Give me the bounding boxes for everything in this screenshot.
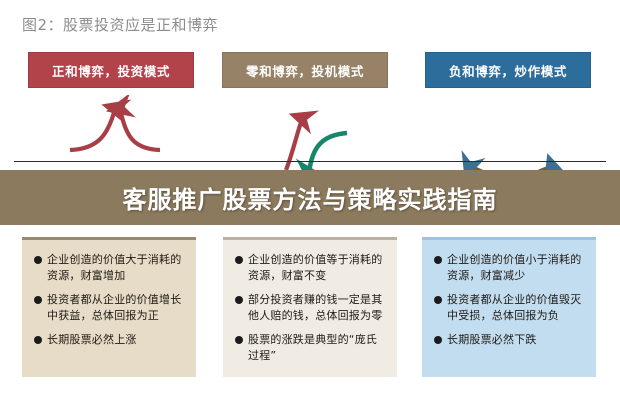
list-item: 股票的涨跌是典型的“庞氏过程”	[235, 332, 387, 363]
bullet-text: 企业创造的价值小于消耗的资源，财富减少	[447, 252, 586, 283]
bullet-dot-icon	[235, 256, 243, 264]
arrow-group-zero-sum	[286, 119, 347, 173]
infographic-root: 图2：股票投资应是正和博弈 正和博弈，投资模式 零和博弈，投机模式 负和博弈，炒…	[0, 0, 620, 400]
mode-bar-zero-sum: 零和博弈，投机模式	[222, 52, 388, 88]
bullet-dot-icon	[434, 336, 442, 344]
list-item: 企业创造的价值小于消耗的资源，财富减少	[434, 252, 586, 283]
horizontal-divider	[14, 161, 606, 162]
list-item: 长期股票必然上涨	[34, 332, 186, 348]
bullet-text: 股票的涨跌是典型的“庞氏过程”	[248, 332, 387, 363]
bullet-text: 企业创造的价值大于消耗的资源，财富增加	[47, 252, 186, 283]
mode-bar-positive-sum-label: 正和博弈，投资模式	[52, 61, 170, 80]
mode-bar-negative-sum-label: 负和博弈，炒作模式	[449, 61, 567, 80]
arrow-right-inward	[120, 109, 160, 150]
mode-bar-negative-sum: 负和博弈，炒作模式	[425, 52, 591, 88]
detail-box-positive-sum: 企业创造的价值大于消耗的资源，财富增加 投资者都从企业的价值增长中获益，总体回报…	[22, 237, 196, 377]
bullet-text: 企业创造的价值等于消耗的资源，财富不变	[248, 252, 387, 283]
list-item: 企业创造的价值等于消耗的资源，财富不变	[235, 252, 387, 283]
arrow-middle-down	[309, 133, 347, 173]
bullet-dot-icon	[434, 256, 442, 264]
overlay-title-banner: 客服推广股票方法与策略实践指南	[0, 170, 620, 225]
bullet-dot-icon	[34, 296, 42, 304]
bullet-dot-icon	[34, 336, 42, 344]
arrow-left-inward	[70, 109, 115, 150]
bullet-text: 部分投资者赚的钱一定是其他人赔的钱，总体回报为零	[248, 292, 387, 323]
bullet-text: 投资者都从企业的价值增长中获益，总体回报为正	[47, 292, 186, 323]
detail-box-zero-sum: 企业创造的价值等于消耗的资源，财富不变 部分投资者赚的钱一定是其他人赔的钱，总体…	[223, 237, 397, 377]
list-item: 企业创造的价值大于消耗的资源，财富增加	[34, 252, 186, 283]
page-title: 客服推广股票方法与策略实践指南	[123, 180, 498, 215]
detail-box-negative-sum: 企业创造的价值小于消耗的资源，财富减少 投资者都从企业的价值毁灭中受损，总体回报…	[422, 237, 596, 377]
bullet-dot-icon	[434, 296, 442, 304]
arrow-middle-up	[286, 119, 302, 170]
list-item: 投资者都从企业的价值毁灭中受损，总体回报为负	[434, 292, 586, 323]
bullet-dot-icon	[34, 256, 42, 264]
list-item: 部分投资者赚的钱一定是其他人赔的钱，总体回报为零	[235, 292, 387, 323]
mode-bar-zero-sum-label: 零和博弈，投机模式	[246, 61, 364, 80]
bullet-text: 投资者都从企业的价值毁灭中受损，总体回报为负	[447, 292, 586, 323]
figure-caption: 图2：股票投资应是正和博弈	[22, 14, 218, 35]
list-item: 长期股票必然下跌	[434, 332, 586, 348]
bullet-dot-icon	[235, 296, 243, 304]
mode-bar-positive-sum: 正和博弈，投资模式	[28, 52, 194, 88]
list-item: 投资者都从企业的价值增长中获益，总体回报为正	[34, 292, 186, 323]
bullet-text: 长期股票必然上涨	[47, 332, 137, 348]
arrow-group-positive-sum	[70, 109, 160, 150]
bullet-dot-icon	[235, 336, 243, 344]
bullet-text: 长期股票必然下跌	[447, 332, 537, 348]
